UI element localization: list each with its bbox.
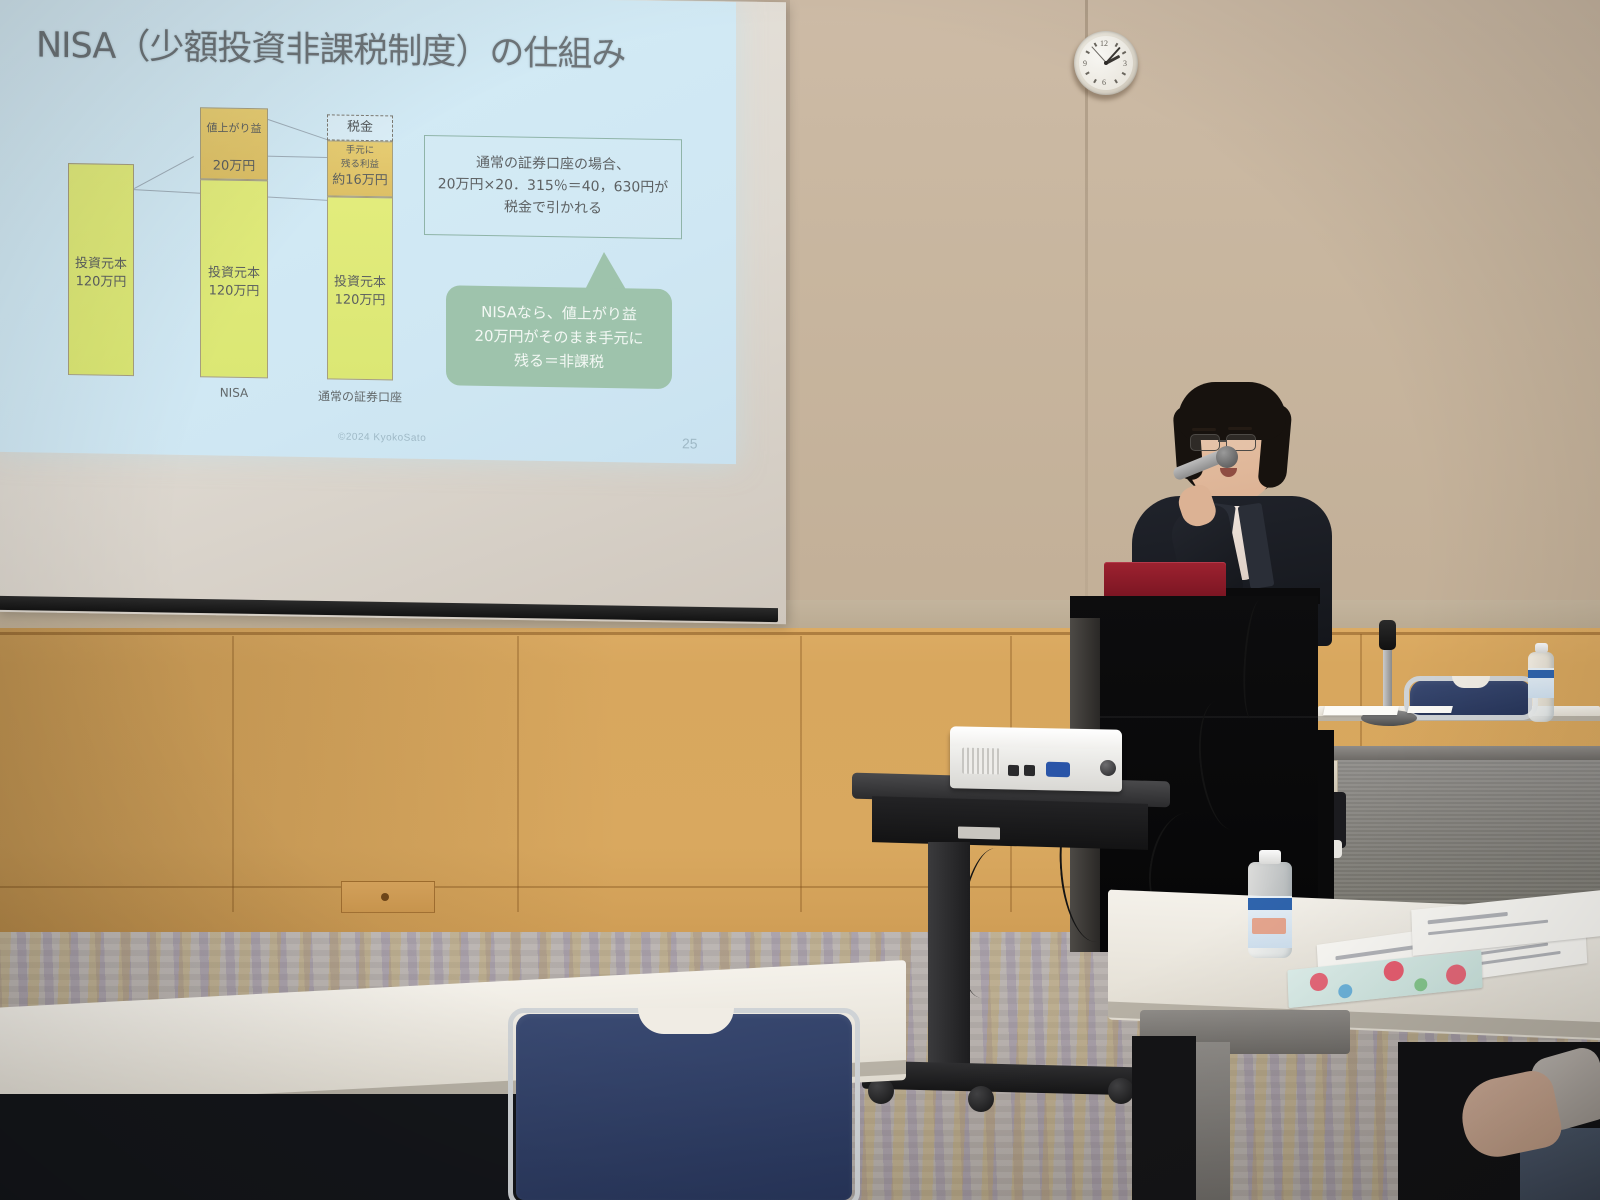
- projector-cart-apron: [872, 796, 1148, 850]
- projector-port[interactable]: [1008, 765, 1019, 776]
- wall-clock: 12 3 6 9: [1070, 30, 1140, 102]
- bar-nisa-axis-label: NISA: [200, 385, 268, 400]
- projection-screen: NISA（少額投資非課税制度）の仕組み 投資元本 120万円 値上がり益: [0, 0, 796, 632]
- podium-red-panel: [1104, 562, 1226, 598]
- rear-table-papers[interactable]: [1323, 706, 1399, 715]
- rear-table-papers[interactable]: [1407, 706, 1453, 713]
- glasses-lens-left: [1190, 434, 1220, 451]
- tax-calculation-box: 通常の証券口座の場合、 20万円×20．315％＝40，630円が 税金で引かれ…: [424, 135, 682, 239]
- nisa-callout-text: NISAなら、値上がり益 20万円がそのまま手元に 残る＝非課税: [474, 300, 643, 375]
- presenter-eyebrow-left: [1192, 428, 1216, 431]
- clock-face: 12 3 6 9: [1079, 36, 1133, 90]
- tax-calculation-text: 通常の証券口座の場合、 20万円×20．315％＝40，630円が 税金で引かれ…: [438, 153, 669, 222]
- presenter-eyebrow-right: [1228, 427, 1252, 430]
- glasses-bridge: [1218, 440, 1226, 442]
- front-right-table-shadow: [1132, 1036, 1196, 1200]
- seminar-room-photo: 12 3 6 9 NISA（少額投資非課税制度）の仕組み: [0, 0, 1600, 1200]
- wall-outlet-screw: [381, 893, 389, 901]
- presenter-hair-front: [1178, 382, 1286, 440]
- slide-copyright: ©2024 KyokoSato: [338, 432, 426, 444]
- projector-port[interactable]: [1024, 765, 1035, 776]
- projected-slide: NISA（少額投資非課税制度）の仕組み 投資元本 120万円 値上がり益: [0, 0, 736, 464]
- clock-number-12: 12: [1100, 39, 1108, 48]
- clock-number-9: 9: [1083, 59, 1087, 68]
- bottle-rear[interactable]: [1528, 652, 1554, 722]
- bar-plain-principal: [68, 163, 134, 376]
- clock-center-cap: [1104, 61, 1108, 65]
- front-chair-notch: [638, 1008, 734, 1034]
- wainscot-seam: [800, 636, 802, 912]
- microphone-stand-head[interactable]: [1379, 620, 1396, 650]
- nisa-callout-bubble: NISAなら、値上がり益 20万円がそのまま手元に 残る＝非課税: [446, 285, 672, 389]
- slide-title: NISA（少額投資非課税制度）の仕組み: [36, 17, 625, 78]
- caster-wheel: [968, 1086, 994, 1112]
- bar-regular-principal: [327, 196, 393, 380]
- projector-vent: [962, 748, 1000, 775]
- slide-page-number: 25: [682, 435, 698, 451]
- table-leg-dark: [1318, 730, 1334, 920]
- wainscot-seam: [517, 636, 519, 912]
- rear-chair-notch: [1452, 676, 1490, 688]
- bar-nisa-principal: [200, 179, 268, 378]
- wainscot-seam: [1360, 634, 1362, 754]
- bar-regular-net-gain: [327, 140, 393, 197]
- clock-number-6: 6: [1102, 78, 1106, 87]
- bar-regular-tax-box: [327, 114, 393, 141]
- bar-nisa-gain: [200, 107, 268, 180]
- connector-line: [134, 156, 194, 189]
- bar-regular-axis-label: 通常の証券口座: [302, 387, 418, 406]
- projector-cart-column: [928, 842, 970, 1080]
- front-right-table-post: [1192, 1042, 1230, 1200]
- projector-top-cover: [950, 726, 1122, 750]
- microphone-stand-pole: [1383, 648, 1392, 714]
- projector-vga-connector[interactable]: [1046, 762, 1070, 778]
- front-table-shadow: [0, 1094, 528, 1200]
- handheld-microphone-head[interactable]: [1216, 446, 1238, 468]
- wainscot-seam: [232, 636, 234, 912]
- clock-number-3: 3: [1123, 59, 1127, 68]
- projector-cart-label: [958, 826, 1000, 839]
- front-chair-frame: [508, 1008, 860, 1200]
- rear-table-apron: [1334, 746, 1600, 760]
- projector-speaker: [1100, 760, 1116, 776]
- bottle-front[interactable]: [1248, 862, 1292, 958]
